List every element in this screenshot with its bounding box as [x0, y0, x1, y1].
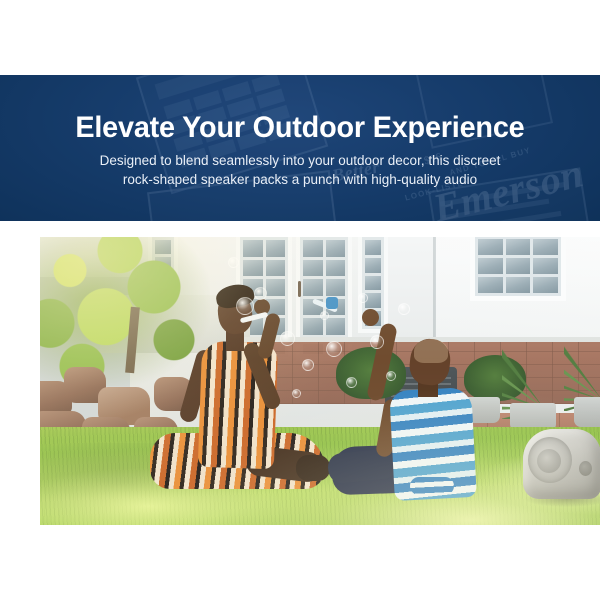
speaker-driver-cone — [537, 449, 561, 473]
bubble — [386, 371, 396, 381]
bubble — [346, 377, 357, 388]
lifestyle-photo — [40, 237, 600, 541]
bubble — [358, 293, 368, 303]
hero-subtitle-line-2: rock-shaped speaker packs a punch with h… — [100, 170, 501, 189]
bubble — [236, 297, 254, 315]
boy-hand-raised — [362, 309, 379, 326]
bubble — [280, 331, 295, 346]
hero-subtitle: Designed to blend seamlessly into your o… — [100, 151, 501, 189]
hero-subtitle-line-1: Designed to blend seamlessly into your o… — [100, 151, 501, 170]
bubble — [398, 303, 410, 315]
boy-head-highlight — [414, 339, 448, 363]
bubble — [370, 335, 384, 349]
boy-foot — [410, 477, 454, 495]
bubble — [292, 389, 301, 398]
bubble — [254, 287, 267, 300]
window-large-right — [470, 237, 566, 301]
lawn-sunlight — [40, 425, 600, 541]
speaker-port — [579, 461, 592, 476]
woman-foot — [296, 455, 330, 481]
hero-title: Elevate Your Outdoor Experience — [75, 111, 524, 145]
rock-speaker-product — [523, 423, 600, 501]
bubble — [228, 257, 239, 268]
bubble — [320, 311, 329, 320]
bubble — [302, 359, 314, 371]
bottom-white-margin — [0, 525, 600, 600]
door-handle — [298, 281, 301, 297]
bubble — [326, 341, 342, 357]
top-white-margin — [0, 0, 600, 75]
photo-scene — [40, 237, 600, 541]
product-feature-card: Emerson AND YOU'LL BUY LOOK-LISTEN Bette… — [0, 0, 600, 600]
bubble-bottle-cap — [326, 297, 338, 309]
hero-banner: Emerson AND YOU'LL BUY LOOK-LISTEN Bette… — [0, 75, 600, 221]
